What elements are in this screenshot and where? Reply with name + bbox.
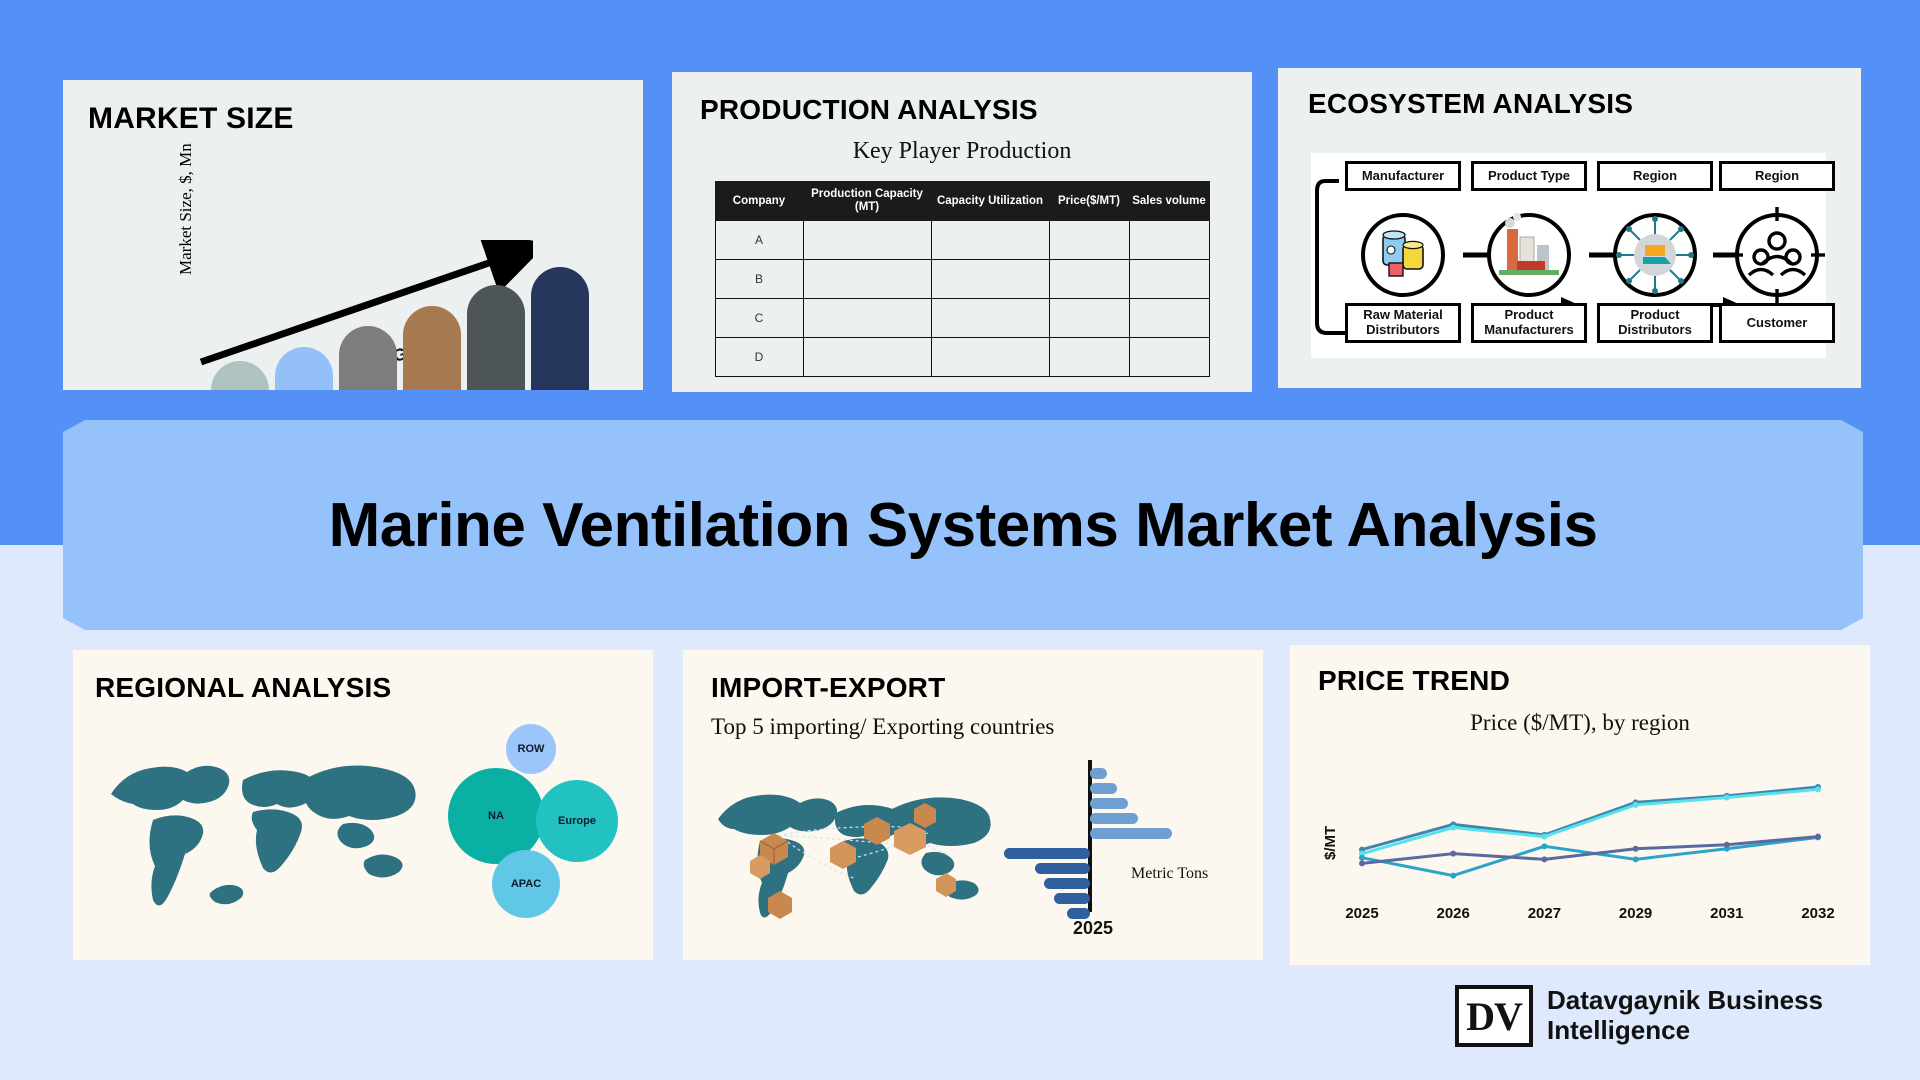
table-cell: D	[715, 338, 803, 377]
table-column-header: Price($/MT)	[1049, 182, 1129, 221]
butterfly-year-label: 2025	[1053, 918, 1133, 939]
import-bar	[1044, 878, 1090, 889]
ecosystem-node-label-bottom: Product Manufacturers	[1471, 303, 1587, 343]
price-trend-x-label: 2027	[1528, 905, 1561, 922]
price-trend-x-label: 2029	[1619, 905, 1652, 922]
table-cell	[1129, 299, 1209, 338]
production-analysis-title: PRODUCTION ANALYSIS	[700, 94, 1252, 126]
market-size-chart: Market Size, $, Mn CAGR~15% 202520262027…	[63, 150, 643, 390]
production-analysis-card: PRODUCTION ANALYSIS Key Player Productio…	[672, 72, 1252, 392]
ecosystem-analysis-card: ECOSYSTEM ANALYSIS	[1278, 68, 1861, 388]
ecosystem-node-label-bottom: Customer	[1719, 303, 1835, 343]
region-bubble: APAC	[492, 850, 560, 918]
main-title-banner: Marine Ventilation Systems Market Analys…	[63, 420, 1863, 630]
regional-bubble-chart: NAEuropeAPACROW	[448, 722, 648, 922]
market-size-bars: 202520262027202920312032	[203, 250, 643, 390]
table-cell	[1129, 260, 1209, 299]
price-trend-data-point	[1541, 856, 1547, 862]
price-trend-x-label: 2025	[1345, 905, 1378, 922]
page-title: Marine Ventilation Systems Market Analys…	[329, 490, 1598, 561]
price-trend-data-point	[1450, 851, 1456, 857]
table-cell	[803, 338, 931, 377]
price-trend-x-label: 2031	[1710, 905, 1743, 922]
logo-text: Datavgaynik Business Intelligence	[1547, 986, 1823, 1046]
ecosystem-node-label-top: Region	[1597, 161, 1713, 191]
ecosystem-analysis-title: ECOSYSTEM ANALYSIS	[1308, 88, 1861, 120]
table-cell: B	[715, 260, 803, 299]
price-trend-lines	[1340, 760, 1840, 910]
table-cell: C	[715, 299, 803, 338]
ecosystem-node-label-bottom: Raw Material Distributors	[1345, 303, 1461, 343]
price-trend-x-axis-labels: 202520262027202920312032	[1340, 905, 1840, 931]
ecosystem-node-label-top: Region	[1719, 161, 1835, 191]
key-player-production-table: CompanyProduction Capacity (MT)Capacity …	[715, 181, 1210, 377]
price-trend-data-point	[1724, 795, 1730, 801]
table-cell	[1049, 260, 1129, 299]
region-bubble: Europe	[536, 780, 618, 862]
table-cell	[931, 299, 1049, 338]
market-size-bar	[467, 285, 525, 390]
metric-tons-label: Metric Tons	[1131, 865, 1208, 883]
regional-analysis-title: REGIONAL ANALYSIS	[95, 672, 653, 704]
table-row: A	[715, 221, 1209, 260]
table-column-header: Sales volume	[1129, 182, 1209, 221]
price-trend-subtitle: Price ($/MT), by region	[1290, 709, 1870, 738]
import-bar	[1054, 893, 1090, 904]
ecosystem-diagram: ManufacturerProduct TypeRegionRegion Raw…	[1311, 153, 1826, 358]
import-export-title: IMPORT-EXPORT	[711, 672, 1263, 704]
production-analysis-subtitle: Key Player Production	[672, 138, 1252, 165]
market-size-bar	[531, 267, 589, 390]
import-export-subtitle: Top 5 importing/ Exporting countries	[711, 714, 1263, 740]
table-row: B	[715, 260, 1209, 299]
price-trend-series-line	[1362, 837, 1818, 864]
table-cell	[1049, 338, 1129, 377]
logo-line-2: Intelligence	[1547, 1016, 1823, 1046]
market-size-bar	[211, 361, 269, 390]
price-trend-data-point	[1633, 856, 1639, 862]
table-cell	[931, 260, 1049, 299]
export-bar	[1090, 783, 1117, 794]
table-cell	[803, 221, 931, 260]
table-cell	[803, 299, 931, 338]
table-row: C	[715, 299, 1209, 338]
table-cell: A	[715, 221, 803, 260]
price-trend-data-point	[1359, 855, 1365, 861]
market-size-bar	[339, 326, 397, 390]
price-trend-data-point	[1541, 834, 1547, 840]
market-size-card: MARKET SIZE Market Size, $, Mn CAGR~15% …	[63, 80, 643, 390]
region-bubble: ROW	[506, 724, 556, 774]
table-cell	[1129, 221, 1209, 260]
price-trend-data-point	[1633, 802, 1639, 808]
world-map-icon	[93, 720, 433, 930]
table-column-header: Capacity Utilization	[931, 182, 1049, 221]
price-trend-data-point	[1633, 846, 1639, 852]
price-trend-card: PRICE TREND Price ($/MT), by region $/MT…	[1290, 645, 1870, 965]
market-size-bar	[403, 306, 461, 390]
table-row: D	[715, 338, 1209, 377]
table-cell	[803, 260, 931, 299]
price-trend-data-point	[1815, 834, 1821, 840]
import-bar	[1004, 848, 1090, 859]
logo-mark: DV	[1455, 985, 1533, 1047]
export-bar	[1090, 828, 1172, 839]
import-export-card: IMPORT-EXPORT Top 5 importing/ Exporting…	[683, 650, 1263, 960]
price-trend-data-point	[1724, 842, 1730, 848]
price-trend-data-point	[1815, 786, 1821, 792]
price-trend-data-point	[1450, 873, 1456, 879]
table-column-header: Company	[715, 182, 803, 221]
logo-line-1: Datavgaynik Business	[1547, 986, 1823, 1016]
ecosystem-node-label-top: Product Type	[1471, 161, 1587, 191]
trade-routes-map-icon	[708, 775, 998, 935]
butterfly-bar-chart: Metric Tons 2025	[1003, 760, 1248, 950]
price-trend-chart: $/MT 202520262027202920312032	[1290, 760, 1870, 940]
market-size-title: MARKET SIZE	[88, 102, 643, 136]
ecosystem-node-label-top: Manufacturer	[1345, 161, 1461, 191]
table-body: ABCD	[715, 221, 1209, 377]
table-header-row: CompanyProduction Capacity (MT)Capacity …	[715, 182, 1209, 221]
table-cell	[931, 221, 1049, 260]
export-bar	[1090, 813, 1138, 824]
ecosystem-node-label-bottom: Product Distributors	[1597, 303, 1713, 343]
market-size-bar	[275, 347, 333, 391]
company-logo: DV Datavgaynik Business Intelligence	[1455, 985, 1823, 1047]
price-trend-data-point	[1450, 825, 1456, 831]
price-trend-x-label: 2032	[1801, 905, 1834, 922]
export-bar	[1090, 768, 1107, 779]
price-trend-y-axis-label: $/MT	[1322, 826, 1339, 860]
table-cell	[1129, 338, 1209, 377]
price-trend-x-label: 2026	[1437, 905, 1470, 922]
regional-analysis-card: REGIONAL ANALYSIS NAEuropeAPACROW	[73, 650, 653, 960]
price-trend-data-point	[1541, 843, 1547, 849]
table-cell	[931, 338, 1049, 377]
import-bar	[1035, 863, 1090, 874]
table-cell	[1049, 221, 1129, 260]
table-column-header: Production Capacity (MT)	[803, 182, 931, 221]
export-bar	[1090, 798, 1128, 809]
table-cell	[1049, 299, 1129, 338]
distribution-network-icon	[1616, 216, 1694, 294]
price-trend-title: PRICE TREND	[1318, 665, 1870, 697]
price-trend-data-point	[1359, 860, 1365, 866]
